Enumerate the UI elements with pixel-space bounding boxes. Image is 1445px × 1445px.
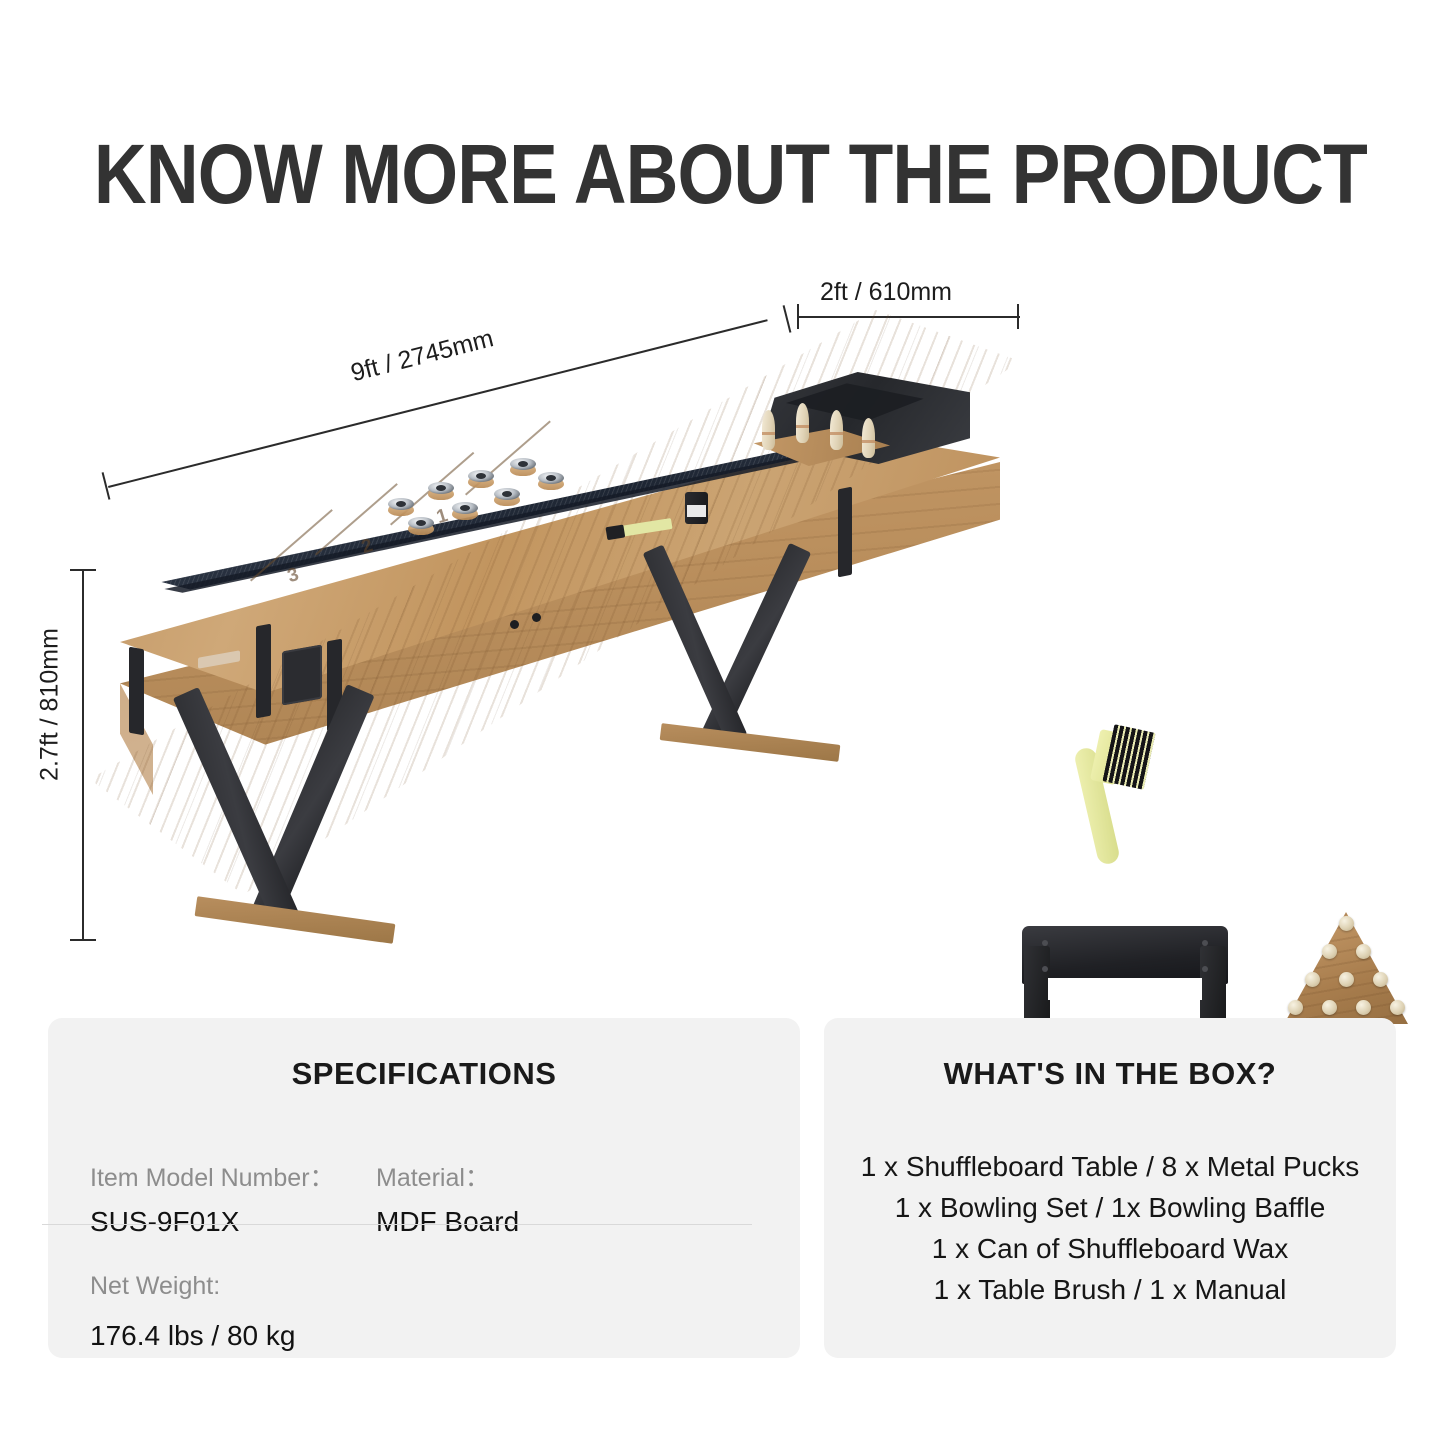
rack-pin <box>1322 1000 1337 1015</box>
rack-pin <box>1356 1000 1371 1015</box>
width-dimension-label: 2ft / 610mm <box>820 278 952 307</box>
table-puck <box>408 517 434 536</box>
whats-in-the-box-panel: WHAT'S IN THE BOX? 1 x Shuffleboard Tabl… <box>824 1018 1396 1358</box>
stand-opening <box>1048 978 1202 1000</box>
height-dimension-label: 2.7ft / 810mm <box>36 595 65 815</box>
bowling-pin <box>862 418 875 458</box>
corner-bracket-far <box>838 487 852 578</box>
specifications-divider <box>42 1224 752 1225</box>
box-content-line: 1 x Can of Shuffleboard Wax <box>824 1228 1396 1269</box>
stand-screw <box>1202 940 1208 946</box>
rack-pin <box>1288 1000 1303 1015</box>
product-infographic: KNOW MORE ABOUT THE PRODUCT 9ft / 2745mm… <box>0 0 1445 1445</box>
bowling-baffle-stand <box>1022 926 1228 1022</box>
apron-hole <box>532 613 541 622</box>
rack-pin <box>1390 1000 1405 1015</box>
specifications-panel: SPECIFICATIONS Item Model Number： SUS-9F… <box>48 1018 800 1358</box>
rack-pin <box>1373 972 1388 987</box>
bowling-pin <box>796 403 809 443</box>
bowling-pin <box>762 410 775 450</box>
spec-label-model: Item Model Number： <box>90 1158 335 1194</box>
specifications-title: SPECIFICATIONS <box>48 1056 800 1092</box>
accessory-plate <box>282 644 322 705</box>
table-puck <box>388 498 414 517</box>
box-content-line: 1 x Shuffleboard Table / 8 x Metal Pucks <box>824 1146 1396 1187</box>
table-puck <box>510 458 536 477</box>
height-dimension-line <box>82 570 84 940</box>
stand-screw <box>1042 966 1048 972</box>
table-puck <box>494 488 520 507</box>
stand-top-panel <box>1022 926 1228 984</box>
rack-pin <box>1305 972 1320 987</box>
rack-pin <box>1339 916 1354 931</box>
apron-hole <box>510 620 519 629</box>
box-content-line: 1 x Bowling Set / 1x Bowling Baffle <box>824 1187 1396 1228</box>
rack-pin <box>1356 944 1371 959</box>
table-puck <box>538 472 564 491</box>
spec-value-weight: 176.4 lbs / 80 kg <box>90 1320 295 1352</box>
table-puck <box>428 482 454 501</box>
table-puck <box>468 470 494 489</box>
rack-pin <box>1322 944 1337 959</box>
table-wax-can <box>685 492 708 524</box>
box-content-line: 1 x Table Brush / 1 x Manual <box>824 1269 1396 1310</box>
corner-bracket-left <box>129 647 144 736</box>
shuffleboard-table-image: 3 2 1 <box>90 310 1020 990</box>
page-title: KNOW MORE ABOUT THE PRODUCT <box>94 132 1351 216</box>
stand-screw <box>1042 940 1048 946</box>
spec-label-weight: Net Weight: <box>90 1272 220 1301</box>
spec-value-material: MDF Board <box>376 1206 519 1238</box>
whats-in-the-box-title: WHAT'S IN THE BOX? <box>824 1056 1396 1092</box>
box-contents-list: 1 x Shuffleboard Table / 8 x Metal Pucks… <box>824 1146 1396 1310</box>
table-puck <box>452 502 478 521</box>
spec-value-model: SUS-9F01X <box>90 1206 239 1238</box>
stand-screw <box>1202 966 1208 972</box>
rack-pin <box>1339 972 1354 987</box>
table-foot-far <box>660 723 841 762</box>
hero-illustration: 9ft / 2745mm 2ft / 610mm 2.7ft / 810mm 3… <box>0 250 1445 990</box>
bowling-pin <box>830 410 843 450</box>
corner-bracket-mid <box>256 624 271 719</box>
spec-label-material: Material： <box>376 1158 490 1194</box>
